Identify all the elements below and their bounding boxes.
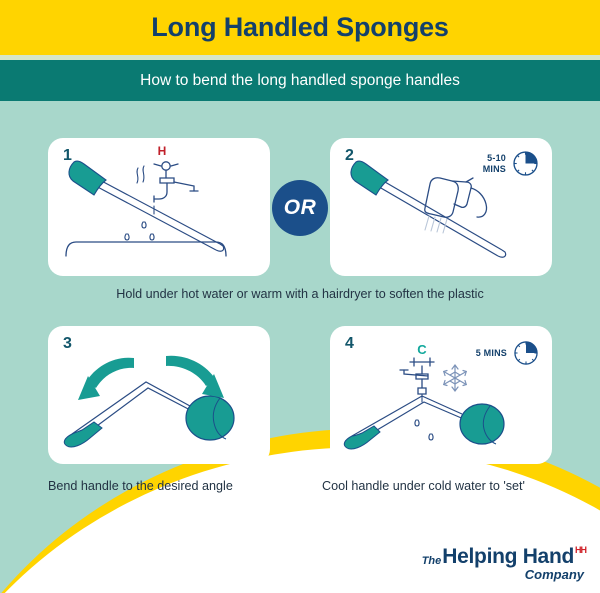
step-4-illustration: C xyxy=(330,326,552,464)
snowflake-icon xyxy=(444,365,467,391)
cold-tap-icon xyxy=(400,358,434,394)
hot-tap-icon xyxy=(154,162,198,202)
cold-label: C xyxy=(417,342,427,357)
step-3-illustration xyxy=(48,326,270,464)
step-card-4: 4 5 MINS xyxy=(330,326,552,464)
hot-label: H xyxy=(158,144,167,158)
logo-the: The xyxy=(422,556,442,567)
logo-primary-row: The Helping Hand HH xyxy=(422,546,586,567)
or-badge: OR xyxy=(272,180,328,236)
water-drop-icon xyxy=(125,206,154,240)
logo-company-word: Company xyxy=(422,568,584,581)
steam-icon xyxy=(137,166,144,183)
step-card-3: 3 xyxy=(48,326,270,464)
page-title: Long Handled Sponges xyxy=(151,12,449,43)
logo-monogram-icon: HH xyxy=(575,546,586,555)
logo-name: Helping Hand xyxy=(442,546,574,567)
sponge-icon xyxy=(69,161,224,251)
step-1-illustration: H xyxy=(48,138,270,276)
infographic-page: Long Handled Sponges How to bend the lon… xyxy=(0,0,600,593)
caption-panel-4: Cool handle under cold water to 'set' xyxy=(322,478,552,495)
bent-sponge-icon xyxy=(344,396,504,449)
subtitle-banner: How to bend the long handled sponge hand… xyxy=(0,60,600,101)
caption-row-1: Hold under hot water or warm with a hair… xyxy=(0,286,600,303)
step-2-illustration xyxy=(330,138,552,276)
or-label: OR xyxy=(284,196,317,220)
curved-arrow-left-icon xyxy=(78,358,134,400)
curved-arrow-right-icon xyxy=(166,356,224,398)
water-drop-icon xyxy=(415,394,433,440)
step-card-1: 1 xyxy=(48,138,270,276)
hairdryer-icon xyxy=(425,178,487,218)
step-card-2: 2 5-10 MINS xyxy=(330,138,552,276)
sponge-icon xyxy=(351,161,506,257)
company-logo: The Helping Hand HH Company xyxy=(422,546,586,581)
title-banner: Long Handled Sponges xyxy=(0,0,600,55)
caption-panel-3: Bend handle to the desired angle xyxy=(48,478,288,495)
page-subtitle: How to bend the long handled sponge hand… xyxy=(140,72,460,90)
